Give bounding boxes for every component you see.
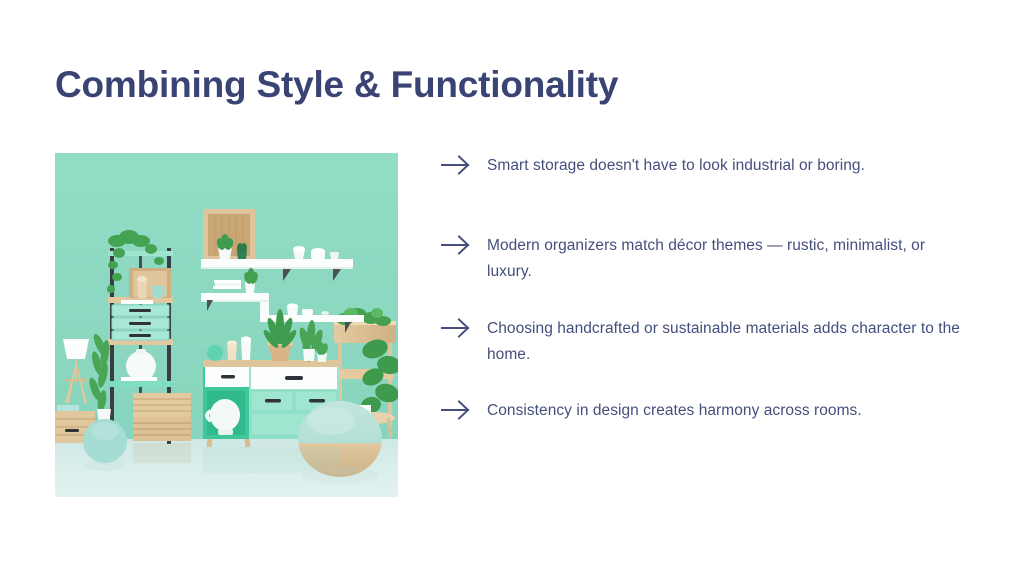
list-item-text: Choosing handcrafted or sustainable mate… xyxy=(487,316,965,367)
list-item-text: Smart storage doesn't have to look indus… xyxy=(487,153,985,179)
list-item-text: Consistency in design creates harmony ac… xyxy=(487,398,985,424)
slide-canvas: Combining Style & Functionality xyxy=(0,0,1024,576)
list-item-text: Modern organizers match décor themes — r… xyxy=(487,233,957,284)
arrow-right-icon xyxy=(440,398,472,422)
list-item: Modern organizers match décor themes — r… xyxy=(440,233,985,284)
arrow-right-icon xyxy=(440,233,472,257)
arrow-right-icon xyxy=(440,153,472,177)
interior-photo-illustration xyxy=(55,153,398,497)
list-item: Consistency in design creates harmony ac… xyxy=(440,398,985,424)
list-item: Choosing handcrafted or sustainable mate… xyxy=(440,316,985,367)
interior-photo xyxy=(55,153,398,497)
page-title: Combining Style & Functionality xyxy=(55,62,618,108)
arrow-right-icon xyxy=(440,316,472,340)
list-item: Smart storage doesn't have to look indus… xyxy=(440,153,985,179)
